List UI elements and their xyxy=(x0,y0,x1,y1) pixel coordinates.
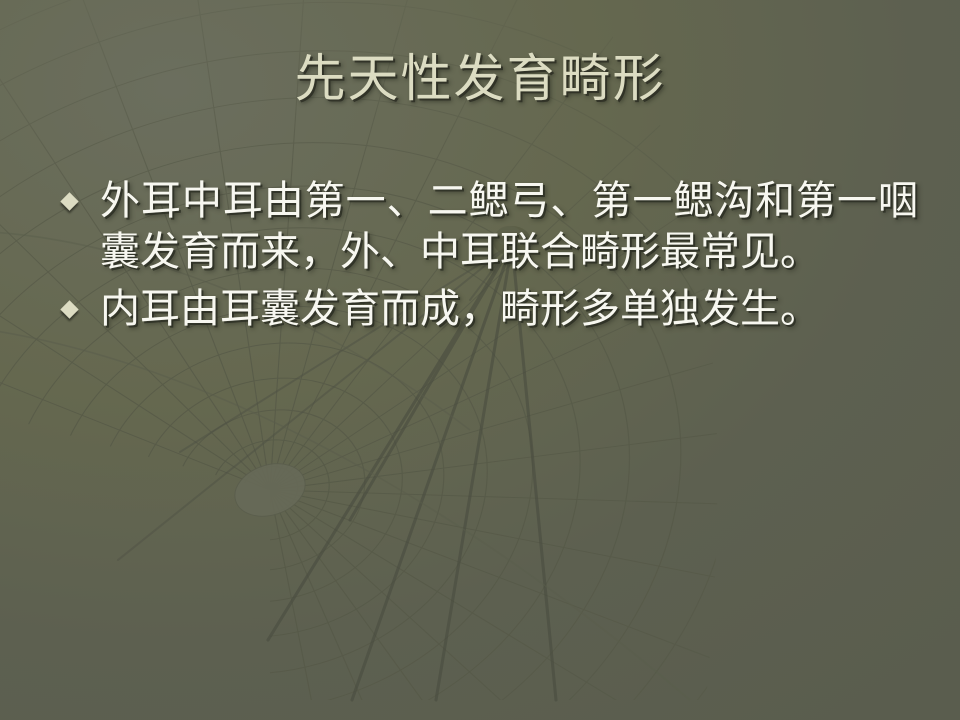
diamond-bullet-icon xyxy=(60,192,78,210)
diamond-bullet-icon xyxy=(60,300,78,318)
list-item-text: 内耳由耳囊发育而成，畸形多单独发生。 xyxy=(100,284,918,335)
presentation-slide: 先天性发育畸形 外耳中耳由第一、二鳃弓、第一鳃沟和第一咽囊发育而来，外、中耳联合… xyxy=(0,0,960,720)
list-item: 内耳由耳囊发育而成，畸形多单独发生。 xyxy=(58,284,918,335)
slide-title-text: 先天性发育畸形 xyxy=(294,52,665,108)
slide-title: 先天性发育畸形 xyxy=(0,52,960,108)
list-item-text: 外耳中耳由第一、二鳃弓、第一鳃沟和第一咽囊发育而来，外、中耳联合畸形最常见。 xyxy=(100,176,918,278)
slide-body-list: 外耳中耳由第一、二鳃弓、第一鳃沟和第一咽囊发育而来，外、中耳联合畸形最常见。 内… xyxy=(58,176,918,337)
list-item: 外耳中耳由第一、二鳃弓、第一鳃沟和第一咽囊发育而来，外、中耳联合畸形最常见。 xyxy=(58,176,918,278)
fan-hub xyxy=(228,455,312,525)
